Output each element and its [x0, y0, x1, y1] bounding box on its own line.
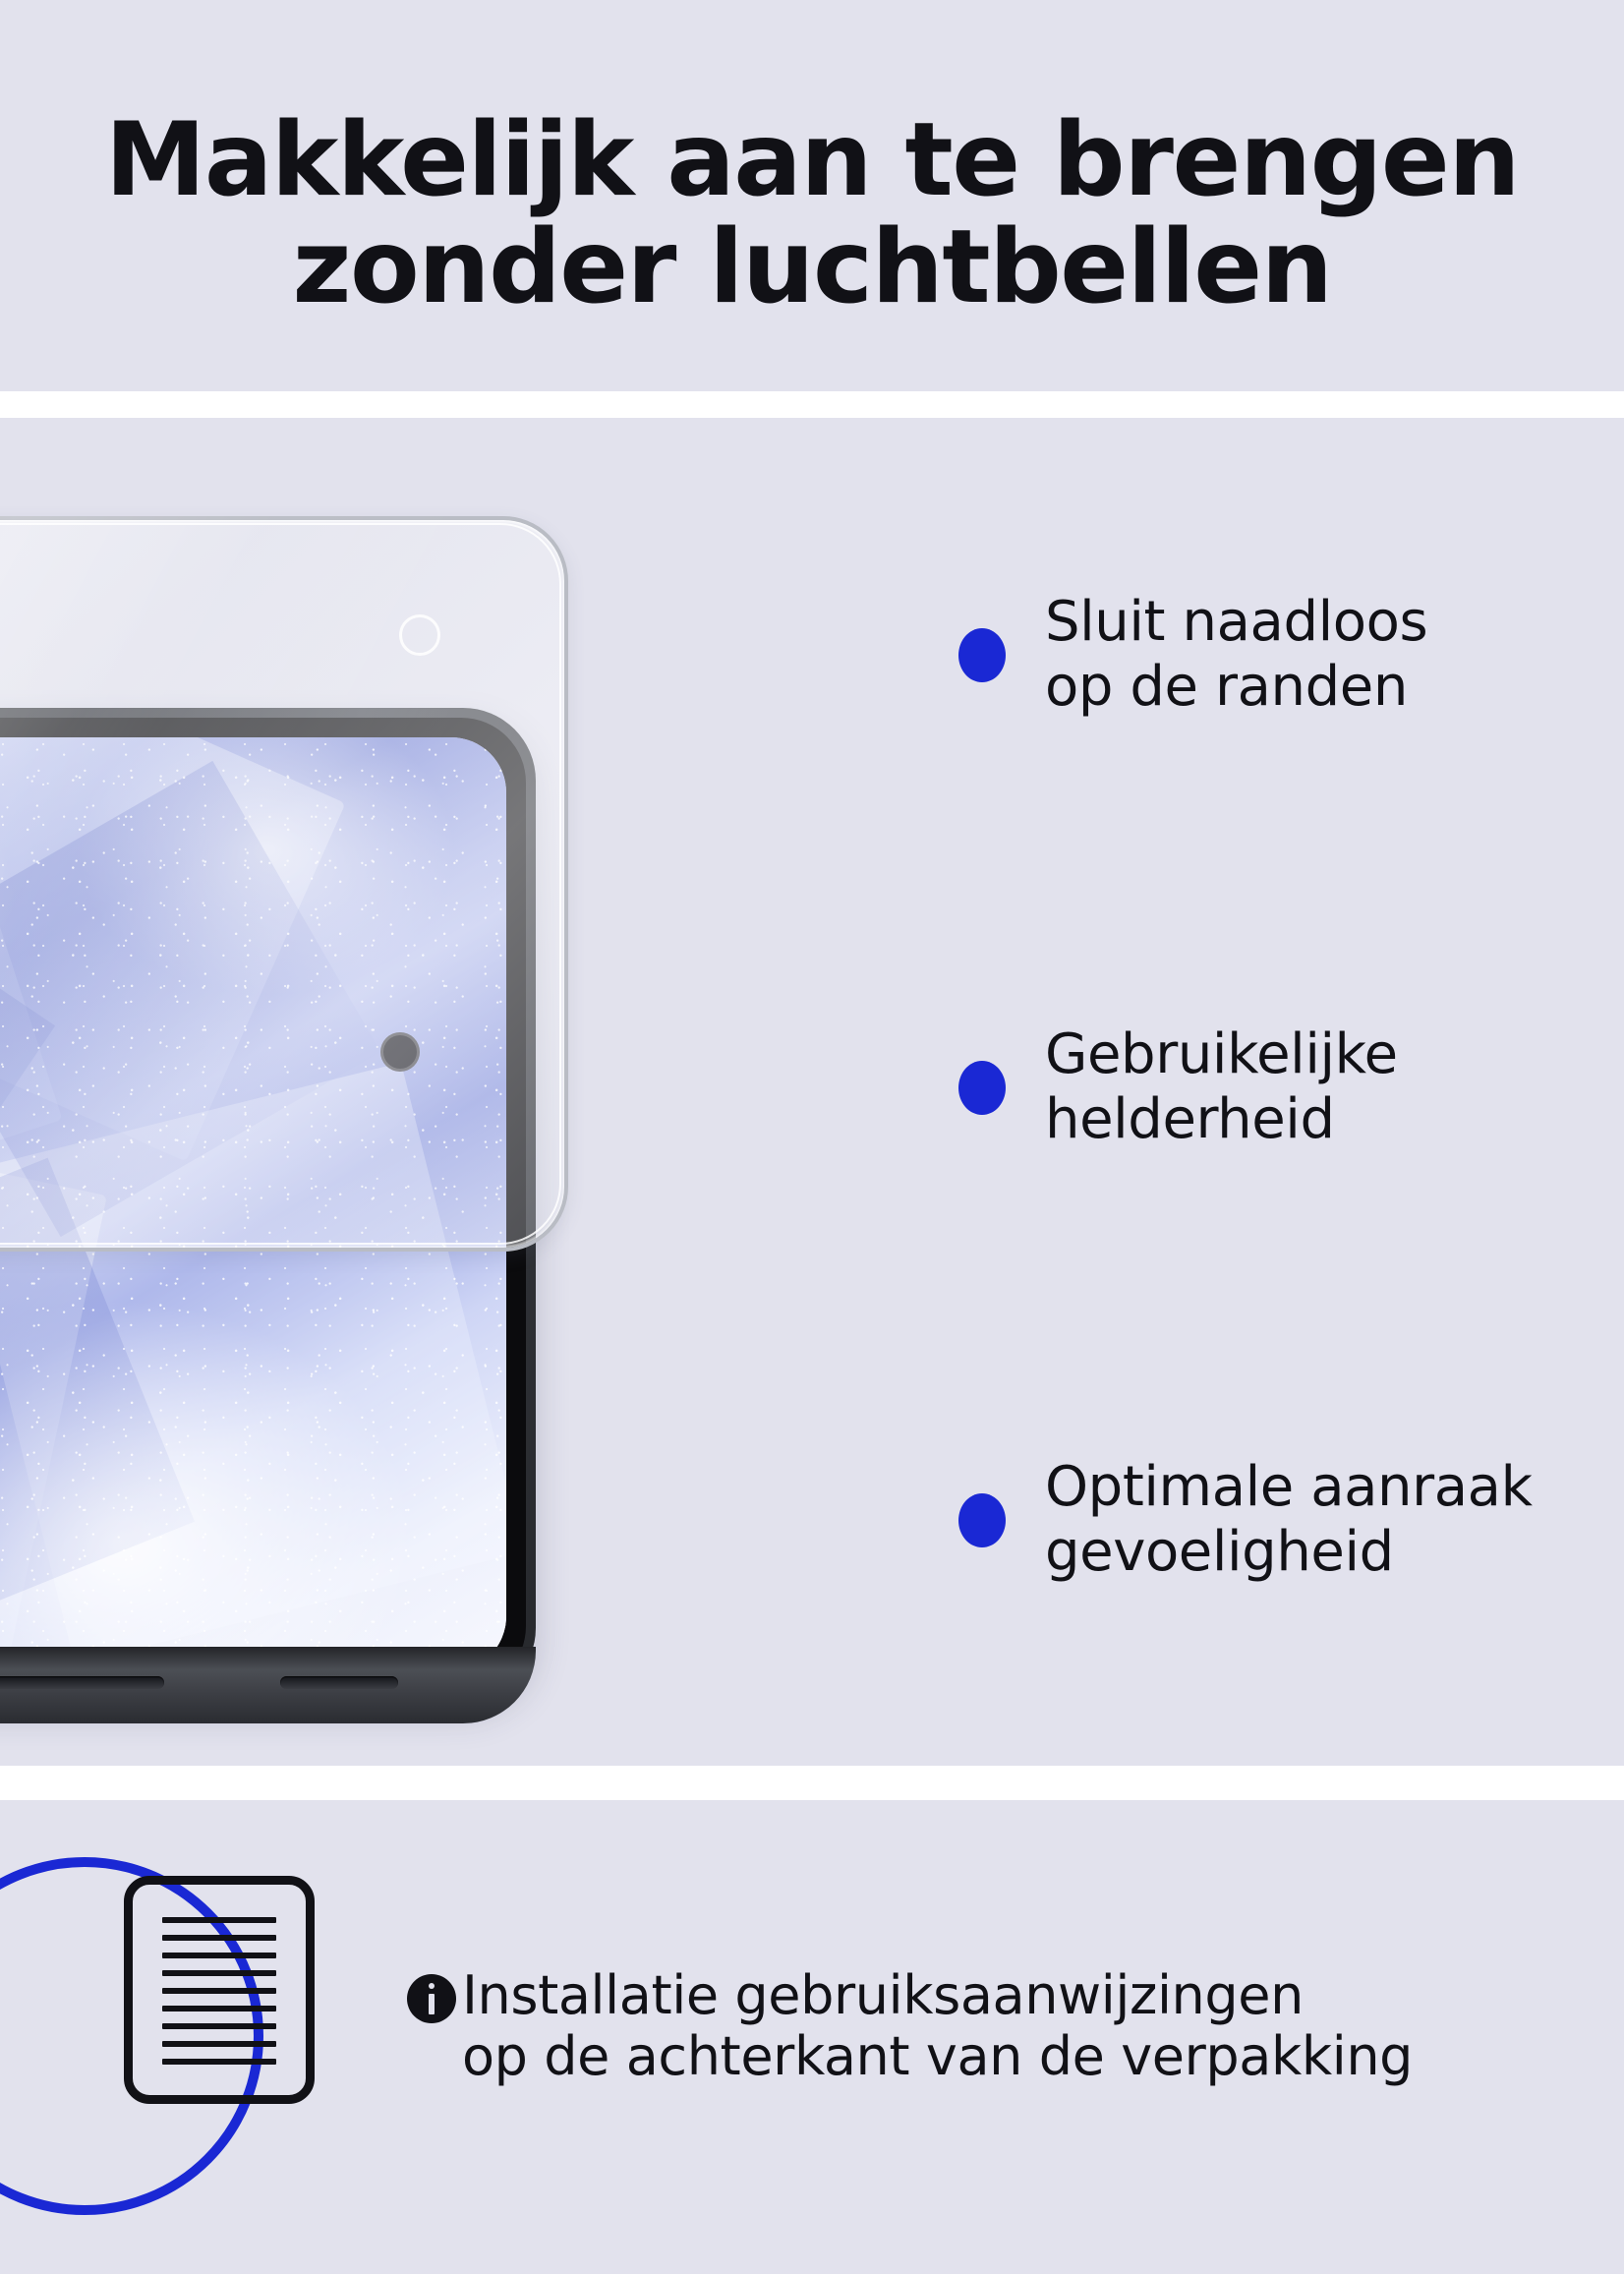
- phone-speaker-slot: [280, 1676, 398, 1689]
- manual-line: [162, 2006, 276, 2012]
- manual-line: [162, 1935, 276, 1941]
- product-showcase-panel: Sluit naadloos op de randen Gebruikelijk…: [0, 418, 1624, 1766]
- list-item: Optimale aanraak gevoeligheid: [958, 1455, 1624, 1585]
- feature-list: Sluit naadloos op de randen Gebruikelijk…: [958, 418, 1624, 1766]
- manual-line: [162, 2023, 276, 2029]
- screen-protector-camera-cutout-icon: [399, 614, 440, 656]
- footer-note: Installatie gebruiksaanwijzingen op de a…: [407, 1965, 1624, 2086]
- manual-line: [162, 2041, 276, 2047]
- phone-bottom-edge: [0, 1647, 536, 1723]
- manual-line: [162, 1917, 276, 1923]
- front-camera-icon: [380, 1032, 420, 1072]
- phone-body: [0, 708, 536, 1701]
- bullet-dot-icon: [958, 1493, 1006, 1547]
- manual-line: [162, 1988, 276, 1994]
- footer-note-label: Installatie gebruiksaanwijzingen op de a…: [462, 1965, 1413, 2086]
- bullet-dot-icon: [958, 1061, 1006, 1115]
- phone-charging-port-slot: [0, 1676, 164, 1689]
- info-icon: [407, 1974, 456, 2023]
- header-panel: Makkelijk aan te brengen zonder luchtbel…: [0, 0, 1624, 391]
- phone-illustration: [0, 418, 880, 1766]
- wallpaper-speckle-texture: [0, 737, 506, 1671]
- bullet-dot-icon: [958, 628, 1006, 682]
- manual-line: [162, 1953, 276, 1958]
- list-item: Sluit naadloos op de randen: [958, 590, 1624, 720]
- manual-text-lines: [162, 1917, 276, 2065]
- feature-label: Gebruikelijke helderheid: [1045, 1022, 1398, 1152]
- manual-line: [162, 2059, 276, 2065]
- feature-label: Sluit naadloos op de randen: [1045, 590, 1427, 720]
- page-title: Makkelijk aan te brengen zonder luchtbel…: [0, 107, 1624, 321]
- footer-panel: Installatie gebruiksaanwijzingen op de a…: [0, 1800, 1624, 2274]
- feature-label: Optimale aanraak gevoeligheid: [1045, 1455, 1533, 1585]
- instruction-manual-icon: [124, 1876, 315, 2104]
- manual-line: [162, 1970, 276, 1976]
- list-item: Gebruikelijke helderheid: [958, 1022, 1624, 1152]
- product-infographic: Makkelijk aan te brengen zonder luchtbel…: [0, 0, 1624, 2274]
- phone-screen: [0, 737, 506, 1671]
- phone-bezel: [0, 718, 526, 1691]
